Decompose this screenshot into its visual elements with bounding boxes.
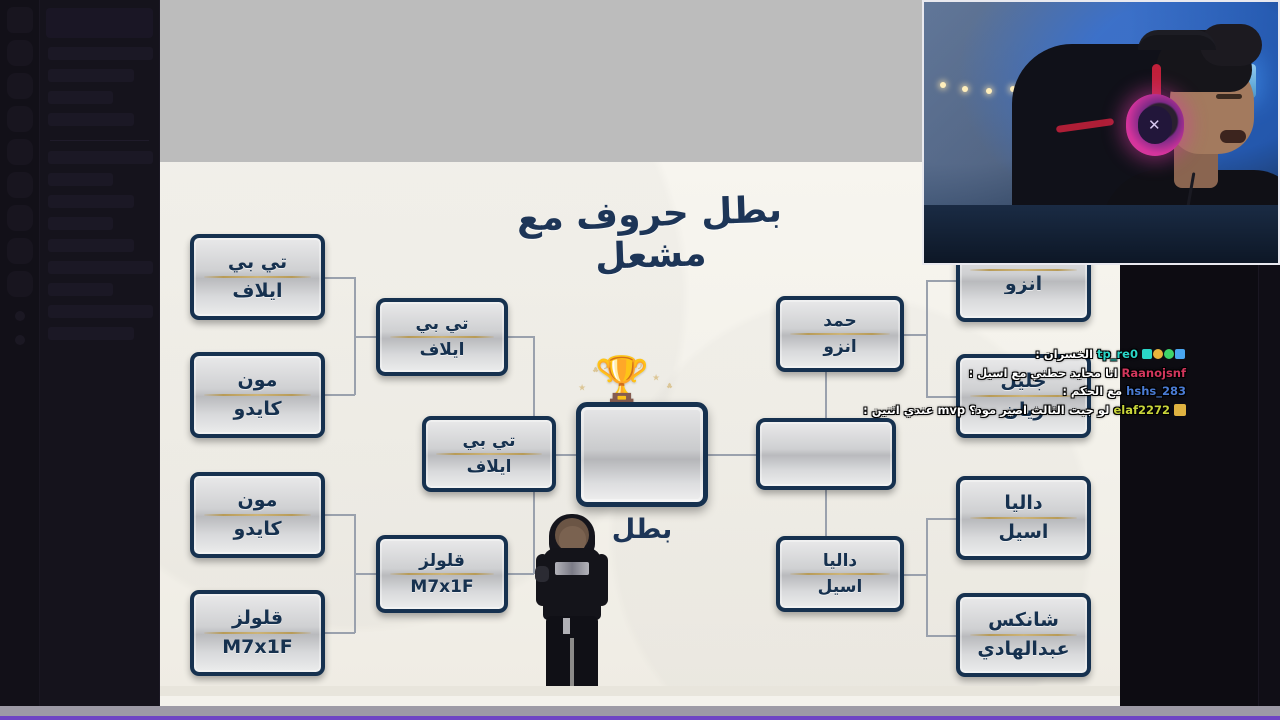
chat-username[interactable]: Raanojsnf	[1122, 366, 1186, 380]
streamer-webcam[interactable]: ✕	[922, 0, 1280, 265]
slot-name-bottom: كايدو	[200, 519, 315, 540]
connector	[904, 574, 928, 576]
contestant-photo-cutout	[535, 518, 610, 693]
channel-item[interactable]	[48, 151, 153, 164]
connector	[508, 336, 534, 338]
trophy-icon: 🏆	[592, 358, 652, 402]
server-icon-7[interactable]	[7, 205, 33, 231]
bracket-slot-left-semifinal[interactable]: تي بي ايلاف	[422, 416, 556, 492]
photo-torso	[543, 548, 601, 620]
slot-divider	[970, 269, 1077, 271]
discord-channel-list[interactable]	[40, 0, 160, 706]
channel-item[interactable]	[48, 217, 113, 230]
slot-name-top: حمد	[786, 312, 894, 330]
connector	[325, 277, 355, 279]
chat-text: الخسران :	[1035, 347, 1093, 361]
server-icon-2[interactable]	[7, 40, 33, 66]
chat-username[interactable]: tp_re0	[1097, 347, 1138, 361]
discord-server-rail[interactable]	[0, 0, 40, 706]
chat-badges	[1142, 346, 1186, 363]
channel-item[interactable]	[48, 113, 134, 126]
channel-item[interactable]	[48, 305, 153, 318]
screen-root: بطل حروف مع مشعل	[0, 0, 1280, 720]
channel-item[interactable]	[48, 173, 113, 186]
server-icon-10[interactable]	[15, 311, 25, 321]
slot-name-top: شانكس	[966, 610, 1081, 631]
slot-name-top: قلولز	[386, 552, 498, 570]
slot-name-bottom: اسيل	[966, 522, 1081, 543]
slot-name-bottom: M7x1F	[200, 637, 315, 658]
connector	[926, 518, 928, 636]
chat-message: elaf2272 لو جبت الثالث اصير مود؟ mvp عند…	[896, 402, 1186, 419]
channel-item[interactable]	[48, 261, 153, 274]
connector	[354, 573, 376, 575]
server-icon-5[interactable]	[7, 139, 33, 165]
slot-name-top: قلولز	[200, 608, 315, 629]
slot-divider	[204, 276, 311, 278]
slot-divider	[390, 336, 494, 338]
connector	[706, 454, 756, 456]
slot-name-bottom: ايلاف	[386, 341, 498, 359]
slot-name-top: داليا	[786, 552, 894, 570]
sparkle-icon: ٭	[578, 378, 586, 396]
badge-icon	[1142, 349, 1152, 359]
photo-belt	[563, 618, 570, 634]
bracket-slot-final-left[interactable]	[576, 402, 708, 507]
slot-divider	[436, 453, 542, 455]
slot-divider	[970, 634, 1077, 636]
channel-item[interactable]	[48, 195, 134, 208]
hyperx-logo-icon: ✕	[1148, 116, 1161, 134]
connector	[325, 394, 355, 396]
bracket-slot-final-right[interactable]	[756, 418, 896, 490]
slot-name-top: تي بي	[432, 432, 546, 450]
board-bottom-edge	[160, 686, 1120, 696]
slot-divider	[970, 517, 1077, 519]
chat-text: مع الحكم :	[1062, 384, 1122, 398]
sparkle-icon: ؞	[666, 382, 673, 396]
server-icon-3[interactable]	[7, 73, 33, 99]
connector	[508, 573, 534, 575]
slot-divider	[204, 632, 311, 634]
photo-arm-right	[595, 554, 608, 606]
chat-username[interactable]: hshs_283	[1126, 384, 1186, 398]
slot-divider	[790, 573, 890, 575]
channel-item[interactable]	[48, 239, 134, 252]
server-icon-9[interactable]	[7, 271, 33, 297]
channel-item[interactable]	[48, 69, 134, 82]
server-icon-4[interactable]	[7, 106, 33, 132]
bracket-slot-l1-2[interactable]: مون كايدو	[190, 352, 325, 438]
emote-icon	[1174, 404, 1186, 416]
server-icon-1[interactable]	[7, 7, 33, 33]
chat-message: hshs_283 مع الحكم :	[896, 383, 1186, 400]
connector	[926, 280, 956, 282]
taskbar-accent-strip	[0, 716, 1280, 720]
bracket-slot-right-semifinal-bottom[interactable]: داليا اسيل	[776, 536, 904, 612]
headset-headband	[1138, 30, 1216, 50]
slot-name-bottom: انزو	[966, 274, 1081, 295]
chat-text: انا محايد حطني مع اسيل :	[969, 366, 1118, 380]
slot-divider	[204, 514, 311, 516]
slot-name-top: مون	[200, 490, 315, 511]
connector	[354, 336, 376, 338]
bracket-slot-right-semifinal-top[interactable]: حمد انزو	[776, 296, 904, 372]
server-icon-8[interactable]	[7, 238, 33, 264]
connector	[325, 632, 355, 634]
chat-message: tp_re0 الخسران :	[896, 346, 1186, 363]
slot-name-top: داليا	[966, 493, 1081, 514]
connector	[926, 635, 956, 637]
slot-name-bottom: ايلاف	[200, 281, 315, 302]
channel-item[interactable]	[48, 47, 153, 60]
photo-hand	[535, 566, 549, 582]
connector	[926, 518, 956, 520]
bracket-slot-l2-1[interactable]: تي بي ايلاف	[376, 298, 508, 376]
slot-divider	[204, 394, 311, 396]
connector	[556, 454, 576, 456]
twitch-chat-overlay: tp_re0 الخسران : Raanojsnf انا محايد حطن…	[896, 346, 1186, 421]
bracket-slot-l1-1[interactable]: تي بي ايلاف	[190, 234, 325, 320]
slot-name-top: تي بي	[200, 252, 315, 273]
channel-item[interactable]	[48, 327, 134, 340]
badge-icon	[1153, 349, 1163, 359]
photo-leg-gap	[570, 638, 574, 693]
chat-message: Raanojsnf انا محايد حطني مع اسيل :	[896, 365, 1186, 382]
photo-shirt-logo	[555, 562, 589, 575]
sparkle-icon: ٭	[652, 368, 660, 386]
slot-name-top: تي بي	[386, 315, 498, 333]
badge-icon	[1164, 349, 1174, 359]
bracket-slot-r1-3[interactable]: داليا اسيل	[956, 476, 1091, 560]
slot-name-bottom: عبدالهادي	[966, 639, 1081, 660]
bracket-slot-l1-4[interactable]: قلولز M7x1F	[190, 590, 325, 676]
page-title: بطل حروف مع مشعل	[459, 187, 842, 282]
badge-icon	[1175, 349, 1185, 359]
streamer-mouth	[1220, 130, 1246, 143]
streamer-eyebrow	[1216, 94, 1242, 99]
bracket-slot-l1-3[interactable]: مون كايدو	[190, 472, 325, 558]
connector	[325, 514, 355, 516]
bracket-slot-r1-4[interactable]: شانكس عبدالهادي	[956, 593, 1091, 677]
server-icon-11[interactable]	[15, 335, 25, 345]
channel-divider	[50, 140, 149, 141]
channel-item[interactable]	[48, 283, 113, 296]
slot-name-bottom: كايدو	[200, 399, 315, 420]
slot-name-top: مون	[200, 370, 315, 391]
connector	[904, 334, 928, 336]
slot-name-bottom: ايلاف	[432, 458, 546, 476]
desk-surface	[924, 205, 1280, 263]
slot-name-bottom: M7x1F	[386, 578, 498, 596]
channel-item[interactable]	[48, 91, 113, 104]
slot-divider	[390, 573, 494, 575]
server-icon-6[interactable]	[7, 172, 33, 198]
slot-divider	[790, 333, 890, 335]
channel-search-bar[interactable]	[46, 8, 153, 38]
slot-name-bottom: انزو	[786, 338, 894, 356]
slot-name-bottom: اسيل	[786, 578, 894, 596]
chat-text: لو جبت الثالث اصير مود؟ mvp عندي اثنين :	[863, 403, 1109, 417]
bracket-slot-l2-2[interactable]: قلولز M7x1F	[376, 535, 508, 613]
chat-username[interactable]: elaf2272	[1113, 403, 1170, 417]
